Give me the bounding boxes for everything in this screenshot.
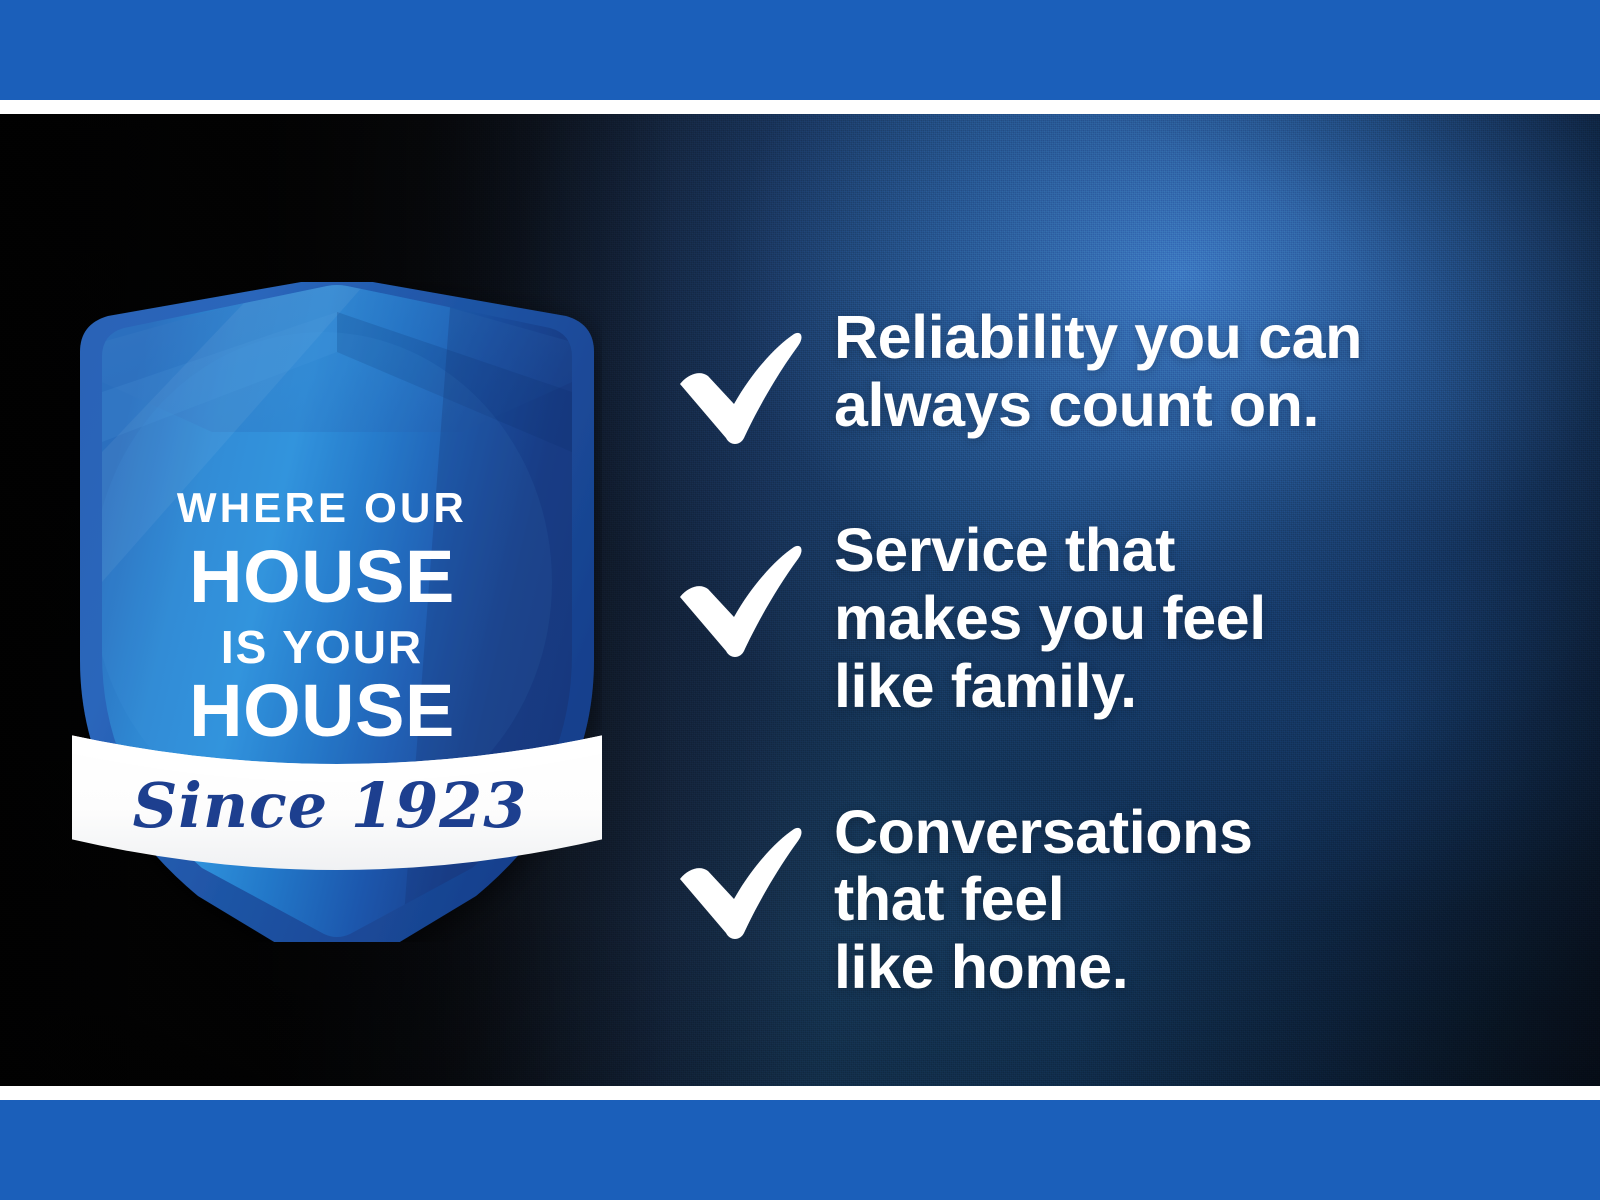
promo-graphic: WHERE OUR HOUSE IS YOUR HOUSE Since 1923: [0, 0, 1600, 1200]
benefit-item-1: Reliability you can always count on.: [672, 304, 1512, 439]
shield-line-3: IS YOUR: [221, 621, 423, 673]
top-brand-band: [0, 0, 1600, 100]
shield-line-4: HOUSE: [189, 669, 455, 752]
bottom-brand-band: [0, 1100, 1600, 1200]
check-icon: [672, 541, 804, 659]
main-panel: WHERE OUR HOUSE IS YOUR HOUSE Since 1923: [0, 114, 1600, 1086]
shield-line-2: HOUSE: [189, 535, 455, 618]
check-icon: [672, 328, 804, 446]
benefit-item-2: Service that makes you feel like family.: [672, 517, 1512, 720]
bottom-white-divider: [0, 1086, 1600, 1100]
top-white-divider: [0, 100, 1600, 114]
check-icon: [672, 823, 804, 941]
shield-badge: WHERE OUR HOUSE IS YOUR HOUSE Since 1923: [72, 282, 602, 942]
benefits-list: Reliability you can always count on. Ser…: [672, 304, 1512, 1002]
benefit-item-3: Conversations that feel like home.: [672, 799, 1512, 1002]
since-banner-text: Since 1923: [133, 769, 528, 842]
shield-line-1: WHERE OUR: [177, 484, 467, 531]
